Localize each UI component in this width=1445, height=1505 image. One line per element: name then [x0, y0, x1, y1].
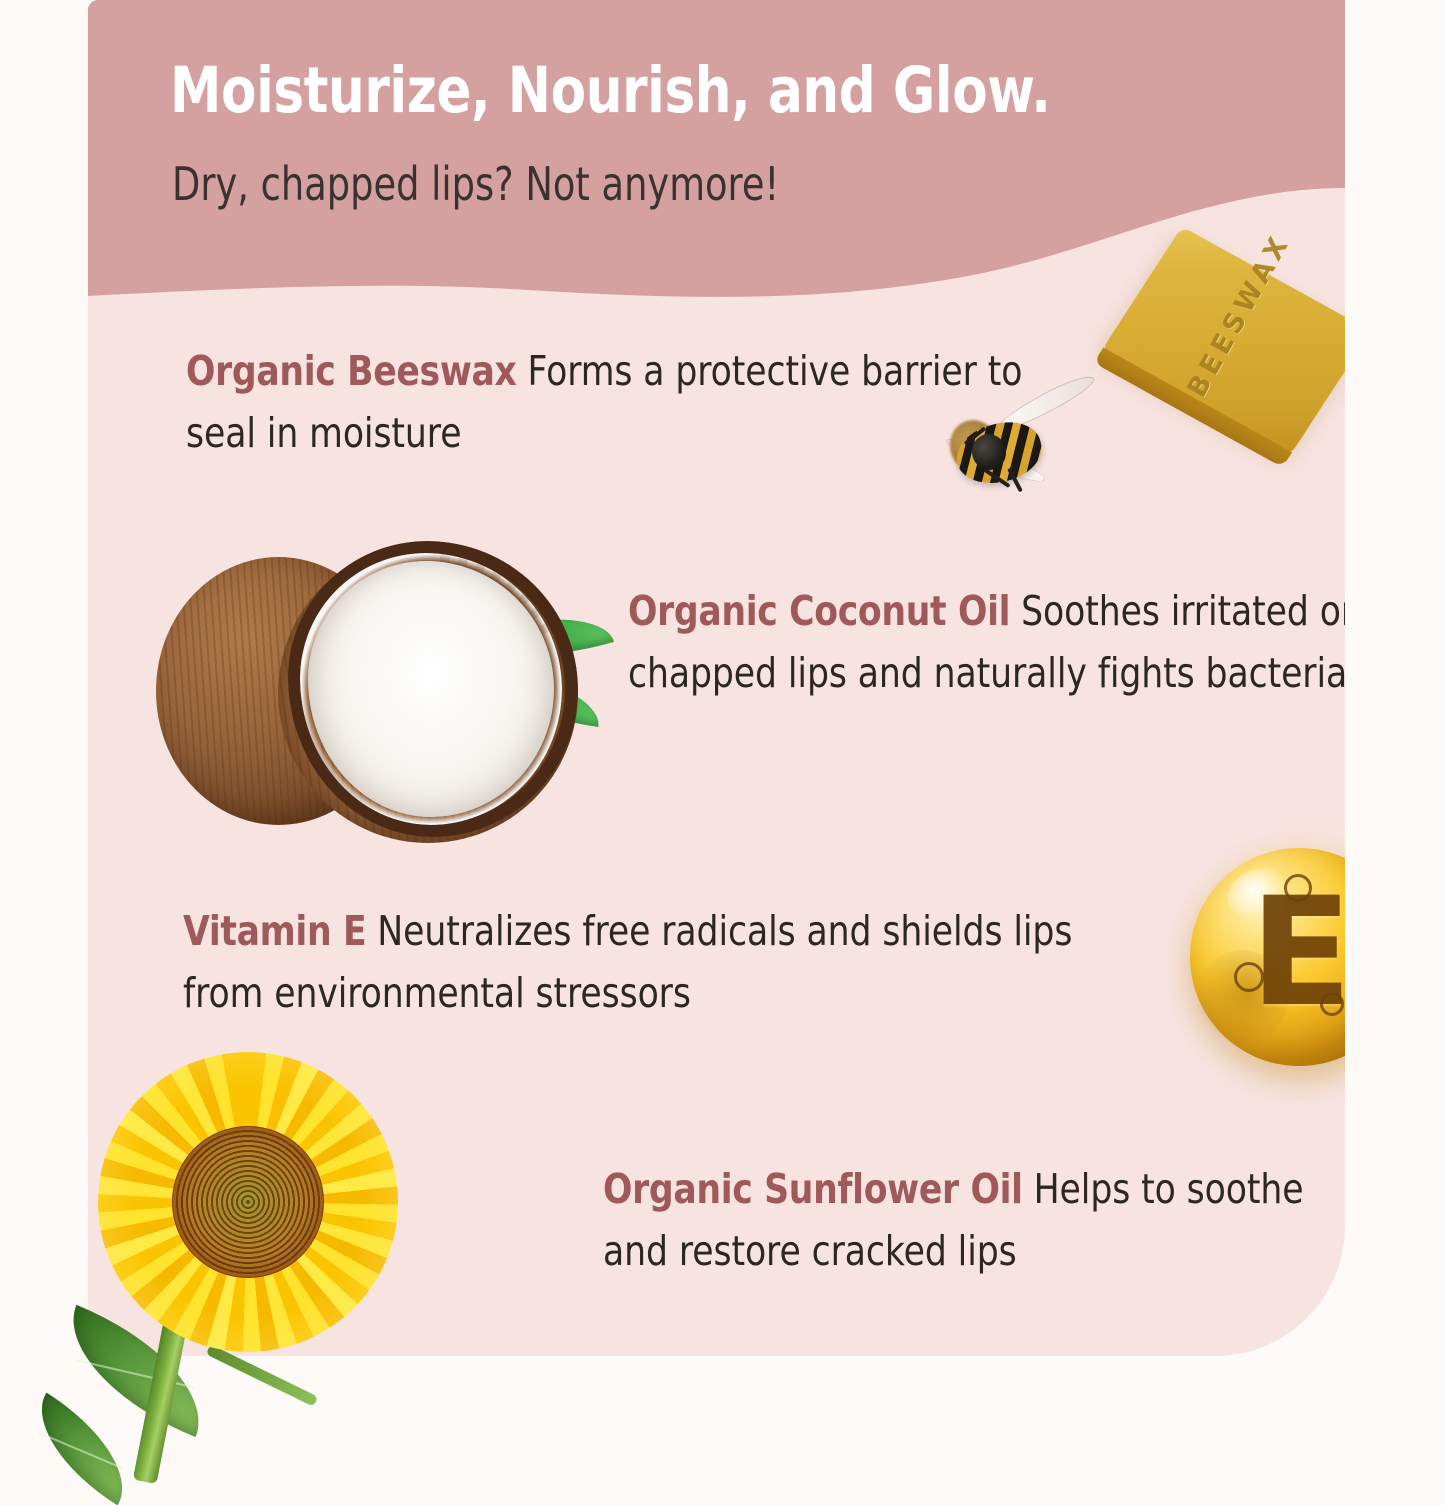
ingredient-text-beeswax: Organic Beeswax Forms a protective barri… [186, 340, 1099, 465]
vitamin-e-droplet-image: E [1180, 842, 1345, 1077]
sunflower-image [62, 1040, 482, 1445]
ingredient-text-coconut-oil: Organic Coconut Oil Soothes irritated or… [628, 580, 1345, 705]
sunflower-leaf-vein-2 [38, 1432, 123, 1469]
sunflower-seed-head-ring [172, 1126, 324, 1278]
ingredient-name-coconut-oil: Organic Coconut Oil [628, 587, 1010, 635]
ingredient-name-vitamin-e: Vitamin E [183, 907, 366, 955]
vitamin-e-bubble-3 [1320, 992, 1344, 1016]
page-title: Moisturize, Nourish, and Glow. [170, 58, 1105, 124]
infographic-canvas: Moisturize, Nourish, and Glow. Dry, chap… [0, 0, 1445, 1445]
vitamin-e-bubble-1 [1284, 874, 1312, 902]
ingredient-text-vitamin-e: Vitamin E Neutralizes free radicals and … [183, 900, 1155, 1025]
sunflower-side-stem [206, 1344, 319, 1406]
beeswax-bar-image [1094, 243, 1345, 533]
ingredient-name-beeswax: Organic Beeswax [186, 347, 517, 395]
coconut-image [148, 535, 618, 865]
ingredient-name-sunflower-oil: Organic Sunflower Oil [603, 1165, 1023, 1213]
page-subtitle: Dry, chapped lips? Not anymore! [172, 160, 1084, 208]
vitamin-e-bubble-2 [1234, 962, 1264, 992]
sunflower-leaf-2 [16, 1393, 149, 1505]
ingredient-text-sunflower-oil: Organic Sunflower Oil Helps to soothe an… [603, 1158, 1345, 1283]
